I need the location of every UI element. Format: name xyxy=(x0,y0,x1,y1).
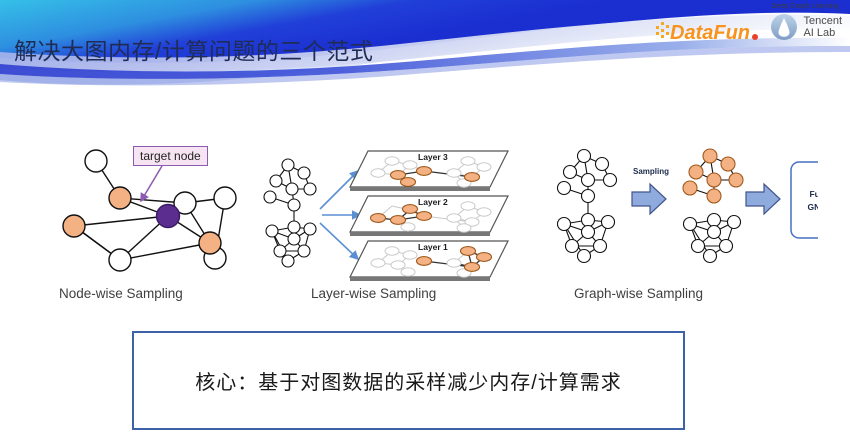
caption-layer-wise: Layer-wise Sampling xyxy=(311,286,436,301)
full-gnn-line2: GNN xyxy=(808,202,818,212)
layer-node-sampled xyxy=(465,173,480,182)
graph-node-sampled xyxy=(707,173,721,187)
layer-node-sampled xyxy=(417,212,432,221)
layer-plane-2: Layer 2 xyxy=(350,196,508,236)
graph-node-sampled xyxy=(109,187,131,209)
layer-label: Layer 3 xyxy=(418,152,448,162)
graph-node-sampled xyxy=(683,181,697,195)
layer-node-sampled xyxy=(417,257,432,266)
block-arrow-icon xyxy=(632,184,666,214)
full-gnn-line1: Full xyxy=(809,189,818,199)
layer-wise-sampling-diagram: Layer 3 xyxy=(258,143,518,285)
tencent-label-line2: AI Lab xyxy=(803,27,842,39)
core-statement-text: 核心：基于对图数据的采样减少内存/计算需求 xyxy=(195,366,622,395)
graph-node xyxy=(85,150,107,172)
graph-wise-sampling-diagram: Sampling xyxy=(548,140,818,280)
page-title: 解决大图内存/计算问题的三个范式 xyxy=(14,32,373,66)
layer-plane-3: Layer 3 xyxy=(350,151,508,191)
layer-node-sampled xyxy=(477,253,492,262)
caption-graph-wise: Graph-wise Sampling xyxy=(574,286,703,301)
layer-node-sampled xyxy=(371,214,386,223)
full-gnn-box: Full GNN xyxy=(791,162,818,238)
block-arrow-icon xyxy=(746,184,780,214)
tencent-label-line1: Tencent xyxy=(803,15,842,27)
layer-plane-1: Layer 1 xyxy=(350,241,508,281)
brand-logos: DataFun Deep Graph Learning xyxy=(656,2,842,43)
layer-node-sampled xyxy=(465,263,480,272)
callout-arrow-icon xyxy=(132,163,172,211)
svg-text:DataFun: DataFun xyxy=(670,22,750,44)
tencent-mark-icon xyxy=(769,11,799,43)
slide: 解决大图内存/计算问题的三个范式 DataFun Deep Graph Lear… xyxy=(0,0,850,443)
layer-node-sampled xyxy=(461,247,476,256)
graph-node xyxy=(109,249,131,271)
graph-node-sampled xyxy=(707,189,721,203)
graph-node-sampled xyxy=(63,215,85,237)
deep-graph-learning-label: Deep Graph Learning xyxy=(771,2,838,11)
graph-node-sampled xyxy=(703,149,717,163)
graph-node-sampled xyxy=(729,173,743,187)
sampling-label: Sampling xyxy=(633,167,669,176)
layer-node-sampled xyxy=(391,216,406,225)
graph-node xyxy=(214,187,236,209)
layer-label: Layer 2 xyxy=(418,197,448,207)
graph-node-sampled xyxy=(721,157,735,171)
core-statement-box: 核心：基于对图数据的采样减少内存/计算需求 xyxy=(132,331,685,430)
graph-node-sampled xyxy=(199,232,221,254)
layer-label: Layer 1 xyxy=(418,242,448,252)
datafun-logo: DataFun xyxy=(656,18,761,49)
graph-node-sampled xyxy=(689,165,703,179)
layer-node-sampled xyxy=(401,178,416,187)
layer-node-sampled xyxy=(417,167,432,176)
tencent-ai-lab-logo: Deep Graph Learning Tencent AI Lab xyxy=(769,2,842,43)
caption-node-wise: Node-wise Sampling xyxy=(59,286,183,301)
layer-node-sampled xyxy=(403,205,418,214)
